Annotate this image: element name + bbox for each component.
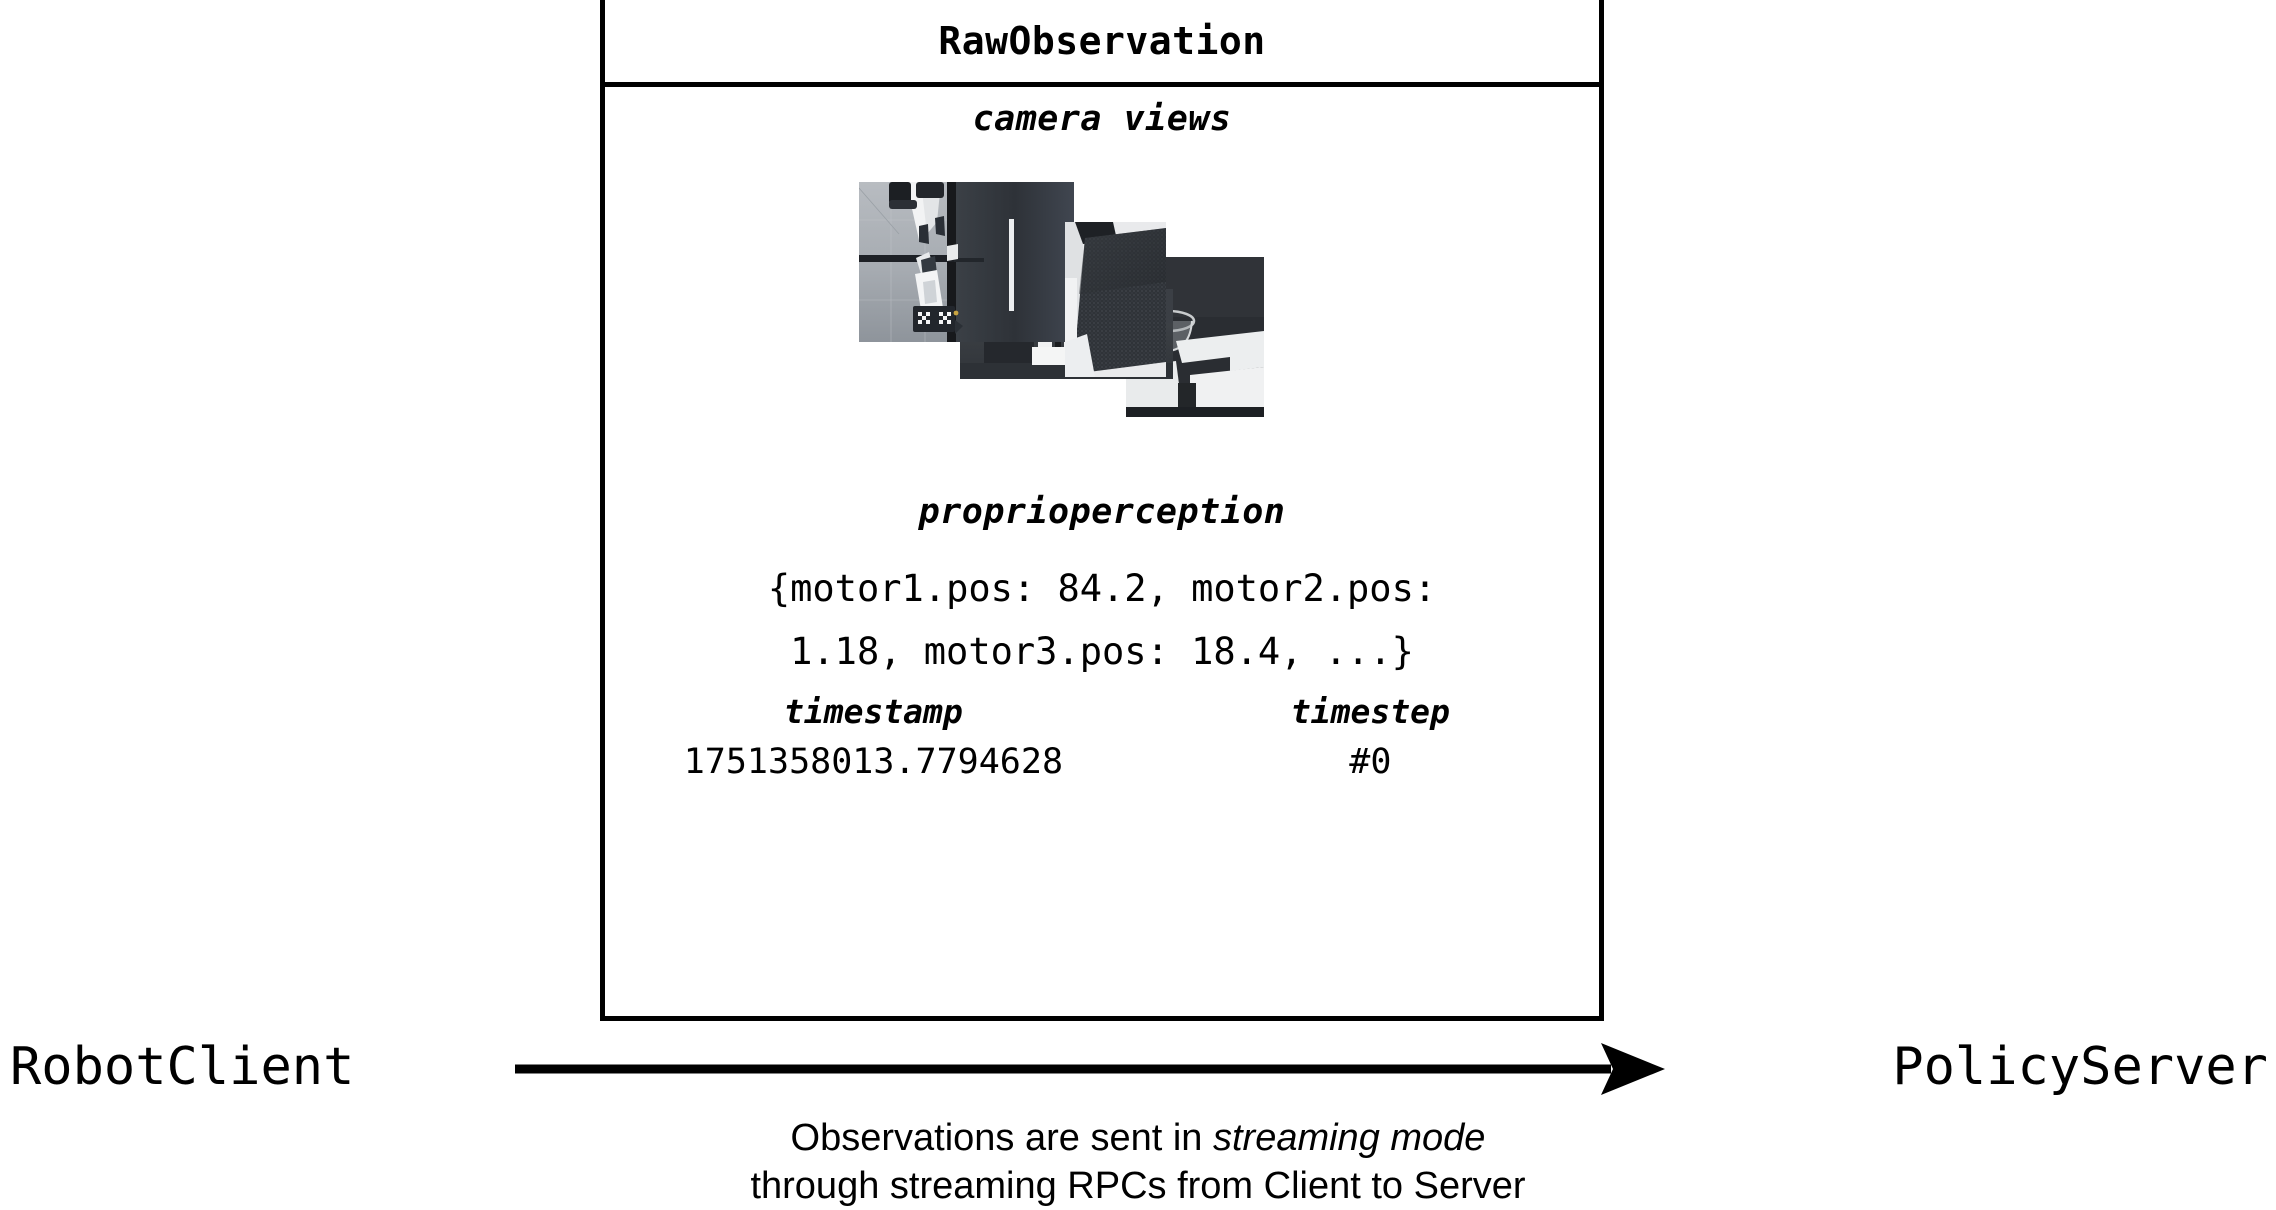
- raw-observation-body: camera views: [605, 87, 1599, 1016]
- flow-caption-line-1-prefix: Observations are sent in: [791, 1117, 1213, 1159]
- flow-caption: Observations are sent in streaming mode …: [0, 1114, 2276, 1210]
- client-server-flow-row: RobotClient PolicyServer: [0, 1024, 2276, 1119]
- timestep-label: timestep: [1142, 692, 1599, 731]
- observation-meta-row: timestamp 1751358013.7794628 timestep #0: [605, 692, 1599, 782]
- proprioperception-label: proprioperception: [605, 492, 1599, 532]
- flow-caption-line-1: Observations are sent in streaming mode: [0, 1114, 2276, 1162]
- timestep-value: #0: [1142, 742, 1599, 782]
- proprioperception-value: {motor1.pos: 84.2, motor2.pos: 1.18, mot…: [633, 557, 1571, 683]
- raw-observation-header: RawObservation: [605, 0, 1599, 87]
- timestamp-label: timestamp: [605, 692, 1142, 731]
- raw-observation-title: RawObservation: [938, 19, 1265, 63]
- flow-caption-line-1-emphasis: streaming mode: [1213, 1117, 1485, 1159]
- raw-observation-card: RawObservation camera views: [600, 0, 1604, 1021]
- camera-views-collage: [605, 177, 1599, 477]
- timestamp-cell: timestamp 1751358013.7794628: [605, 692, 1142, 782]
- robot-client-label: RobotClient: [10, 1024, 354, 1110]
- flow-caption-line-2: through streaming RPCs from Client to Se…: [0, 1162, 2276, 1210]
- timestamp-value: 1751358013.7794628: [605, 742, 1142, 782]
- timestep-cell: timestep #0: [1142, 692, 1599, 782]
- camera-views-label: camera views: [605, 99, 1599, 139]
- camera-view-image-wrist: [1065, 222, 1166, 377]
- policy-server-label: PolicyServer: [1892, 1024, 2268, 1110]
- flow-arrow-icon: [515, 1041, 1665, 1097]
- camera-view-image-overhead: [859, 182, 1074, 342]
